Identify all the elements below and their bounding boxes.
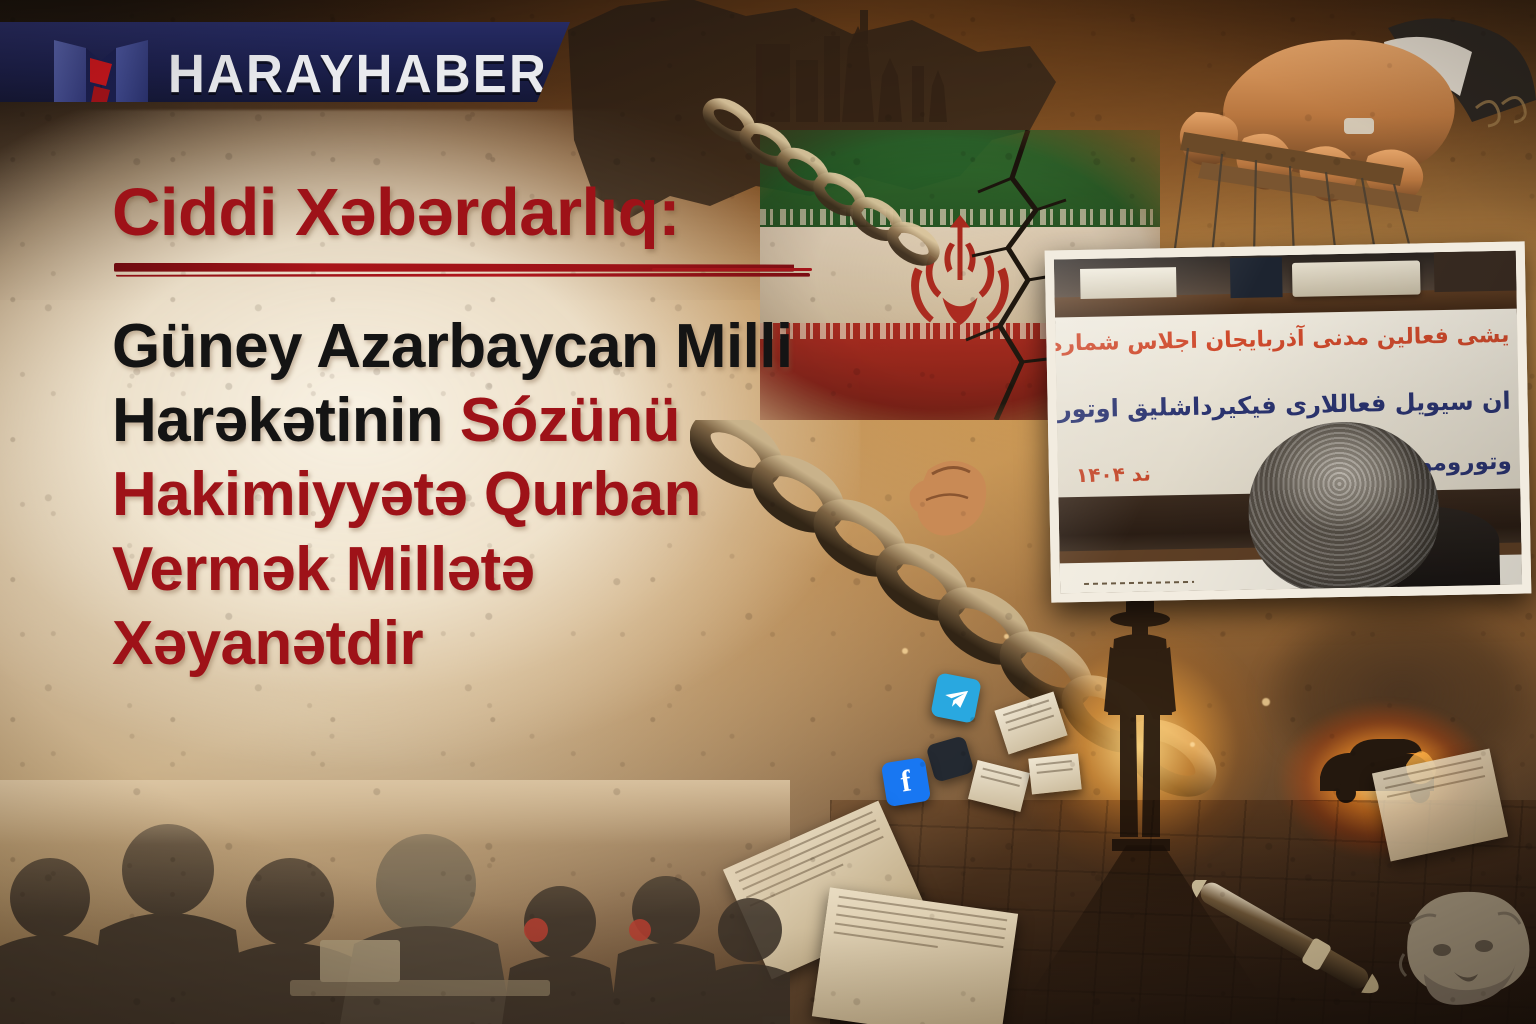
headline-line-3: Hakimiyyətə Qurban [112,458,872,532]
headline-seg: Harəkətinin [112,386,460,455]
inset-date-text: ند ۱۴۰۴ [1076,462,1151,487]
inset-photo-content: یشی فعالین مدنی آذربایجان اجلاس شماره ۲ … [1054,251,1522,594]
inset-tissue-box [1292,260,1421,296]
inset-dark-object [1230,257,1283,298]
headline-line-4: Vermək Millətə [112,533,872,607]
headline-underline-rule [112,262,814,280]
inset-caption-line-2: ان سیویل فعاللاری فیکیرداشلیق اوتورومو [1056,387,1510,424]
dust-mote [902,648,908,654]
inset-person-sleeve [1434,251,1522,293]
news-graphic-poster: f [0,0,1536,1024]
headline-block: Ciddi Xəbərdarlıq: Güney Azarbaycan Mill… [112,178,872,682]
headline-line-1: Güney Azarbaycan Milli [112,310,872,384]
headline-seg: Vermək Millətə [112,535,534,604]
dust-mote [1004,634,1009,639]
headline-line-5: Xəyanətdir [112,607,872,681]
brand-banner[interactable]: HARAYHABER [0,22,570,102]
headline-seg-accent: Sózünü [460,386,680,455]
headline-kicker: Ciddi Xəbərdarlıq: [112,178,872,248]
inset-paper-stack [1080,267,1177,299]
headline-seg: Hakimiyyətə Qurban [112,460,701,529]
inset-caption-line-1: یشی فعالین مدنی آذربایجان اجلاس شماره ۲ [1055,323,1509,357]
dust-mote [1190,742,1195,747]
headline-seg: Xəyanətdir [112,609,423,678]
headline-seg: Güney Azarbaycan Milli [112,312,793,381]
dust-mote [1262,698,1270,706]
inset-photo[interactable]: یشی فعالین مدنی آذربایجان اجلاس شماره ۲ … [1045,241,1532,602]
brand-name: HARAYHABER [168,42,548,105]
headline-line-2: Harəkətinin Sózünü [112,384,872,458]
